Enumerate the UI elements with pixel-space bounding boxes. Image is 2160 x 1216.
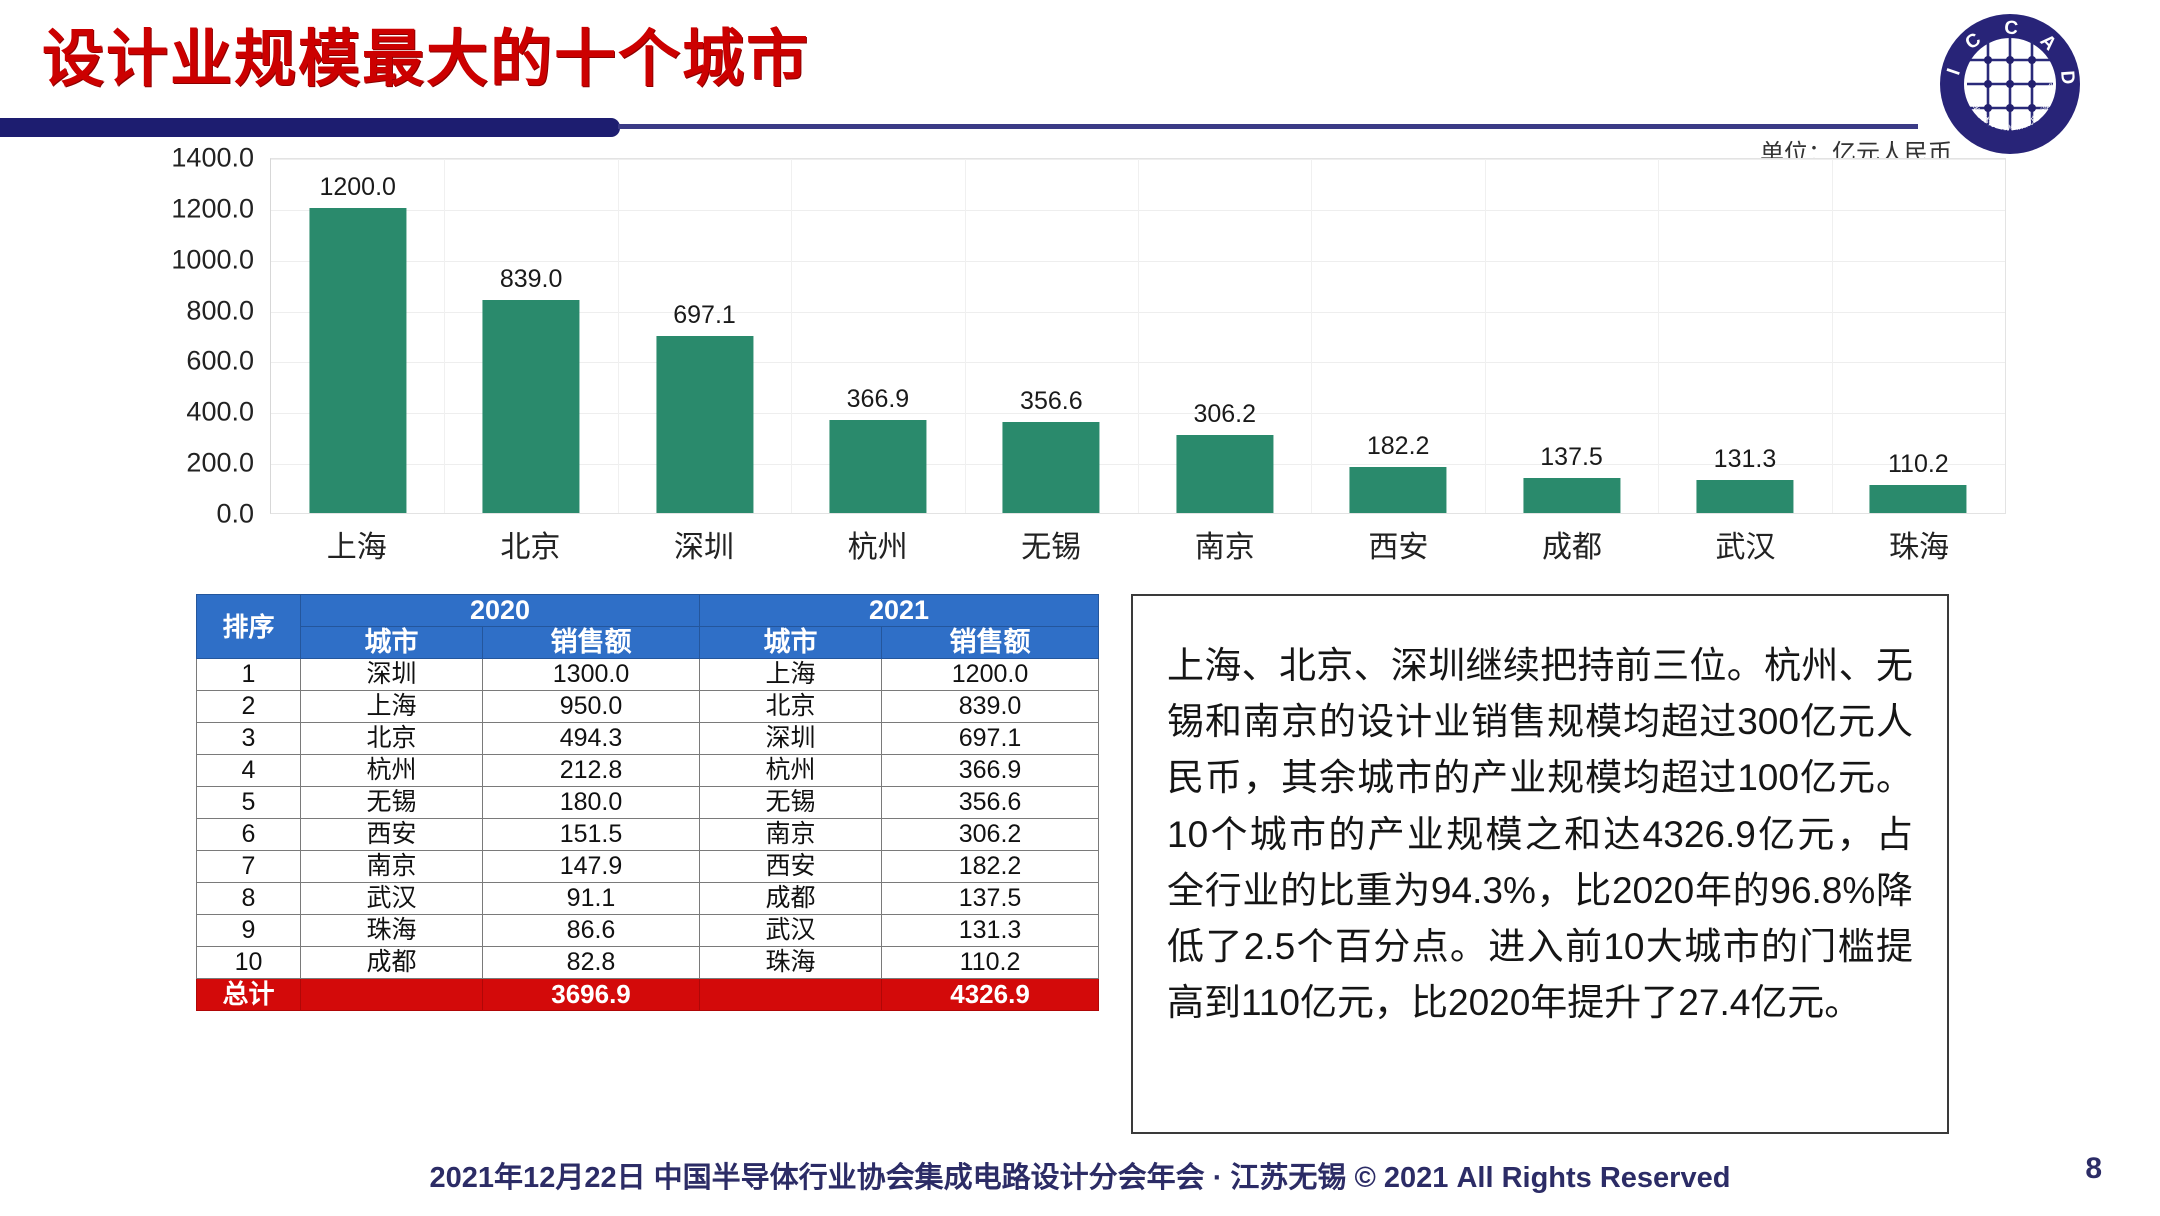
bar-深圳 — [656, 336, 753, 513]
city-cell-2020: 深圳 — [301, 659, 483, 691]
x-axis-tick: 深圳 — [617, 522, 791, 574]
sales-cell-2020: 147.9 — [483, 851, 700, 883]
commentary-box: 上海、北京、深圳继续把持前三位。杭州、无锡和南京的设计业销售规模均超过300亿元… — [1131, 594, 1949, 1134]
bar-无锡 — [1003, 422, 1100, 513]
sales-cell-2021: 182.2 — [882, 851, 1099, 883]
city-cell-2020: 武汉 — [301, 883, 483, 915]
bar-value-label: 839.0 — [500, 265, 563, 294]
bar-slot: 182.2 — [1311, 159, 1484, 513]
bar-value-label: 182.2 — [1367, 432, 1430, 461]
city-cell-2020: 上海 — [301, 691, 483, 723]
bar-slot: 1200.0 — [271, 159, 444, 513]
rank-cell: 1 — [197, 659, 301, 691]
city-cell-2021: 成都 — [700, 883, 882, 915]
bar-slot: 697.1 — [618, 159, 791, 513]
sales-cell-2020: 82.8 — [483, 947, 700, 979]
total-city-2020 — [301, 979, 483, 1011]
rank-cell: 8 — [197, 883, 301, 915]
bar-上海 — [309, 208, 406, 513]
sales-cell-2020: 212.8 — [483, 755, 700, 787]
city-cell-2021: 深圳 — [700, 723, 882, 755]
y-axis-tick: 1400.0 — [171, 143, 254, 174]
bar-value-label: 356.6 — [1020, 387, 1083, 416]
bar-珠海 — [1870, 485, 1967, 513]
rank-cell: 4 — [197, 755, 301, 787]
sales-cell-2021: 697.1 — [882, 723, 1099, 755]
sales-cell-2020: 151.5 — [483, 819, 700, 851]
bar-南京 — [1176, 435, 1273, 513]
x-axis-tick: 武汉 — [1659, 522, 1833, 574]
sales-cell-2021: 137.5 — [882, 883, 1099, 915]
title-underline-thick — [0, 118, 620, 137]
y-axis-tick: 200.0 — [186, 448, 254, 479]
col-header-city-2020: 城市 — [301, 627, 483, 659]
rank-cell: 7 — [197, 851, 301, 883]
y-axis-tick: 1000.0 — [171, 244, 254, 275]
title-area: 设计业规模最大的十个城市 — [0, 0, 2160, 150]
x-axis-tick: 上海 — [270, 522, 444, 574]
table-row: 4杭州212.8杭州366.9 — [197, 755, 1099, 787]
sales-cell-2021: 356.6 — [882, 787, 1099, 819]
table-row: 8武汉91.1成都137.5 — [197, 883, 1099, 915]
table-body: 1深圳1300.0上海1200.02上海950.0北京839.03北京494.3… — [197, 659, 1099, 1011]
city-cell-2021: 无锡 — [700, 787, 882, 819]
sales-cell-2021: 306.2 — [882, 819, 1099, 851]
x-axis: 上海北京深圳杭州无锡南京西安成都武汉珠海 — [270, 522, 2006, 574]
col-header-city-2021: 城市 — [700, 627, 882, 659]
table-header: 排序 2020 2021 城市 销售额 城市 销售额 — [197, 595, 1099, 659]
rank-cell: 2 — [197, 691, 301, 723]
x-axis-tick: 无锡 — [964, 522, 1138, 574]
y-axis-tick: 0.0 — [216, 499, 254, 530]
plot-area: 1200.0839.0697.1366.9356.6306.2182.2137.… — [270, 158, 2006, 514]
bar-slot: 137.5 — [1485, 159, 1658, 513]
bar-杭州 — [829, 420, 926, 513]
sales-cell-2021: 131.3 — [882, 915, 1099, 947]
bar-slot: 131.3 — [1658, 159, 1831, 513]
bar-slot: 306.2 — [1138, 159, 1311, 513]
city-cell-2020: 西安 — [301, 819, 483, 851]
bar-value-label: 306.2 — [1193, 400, 1256, 429]
sales-cell-2021: 1200.0 — [882, 659, 1099, 691]
rank-cell: 6 — [197, 819, 301, 851]
total-sales-2020: 3696.9 — [483, 979, 700, 1011]
x-axis-tick: 珠海 — [1832, 522, 2006, 574]
bar-slot: 110.2 — [1832, 159, 2005, 513]
footer-text: 2021年12月22日 中国半导体行业协会集成电路设计分会年会 · 江苏无锡 ©… — [0, 1154, 2160, 1196]
city-cell-2020: 珠海 — [301, 915, 483, 947]
col-header-sales-2020: 销售额 — [483, 627, 700, 659]
bar-slot: 839.0 — [444, 159, 617, 513]
city-cell-2020: 杭州 — [301, 755, 483, 787]
city-cell-2021: 西安 — [700, 851, 882, 883]
x-axis-tick: 成都 — [1485, 522, 1659, 574]
table-total-row: 总计3696.94326.9 — [197, 979, 1099, 1011]
bar-北京 — [483, 300, 580, 513]
bar-武汉 — [1696, 480, 1793, 513]
table-row: 10成都82.8珠海110.2 — [197, 947, 1099, 979]
sales-cell-2020: 86.6 — [483, 915, 700, 947]
city-cell-2021: 上海 — [700, 659, 882, 691]
iccad-logo: I C C A D 中国半导体行业协会集成电路设计分会 — [1936, 8, 2084, 156]
city-cell-2021: 杭州 — [700, 755, 882, 787]
rank-cell: 5 — [197, 787, 301, 819]
col-header-2021: 2021 — [700, 595, 1099, 627]
bar-slot: 356.6 — [965, 159, 1138, 513]
col-header-sales-2021: 销售额 — [882, 627, 1099, 659]
rank-cell: 9 — [197, 915, 301, 947]
city-cell-2021: 北京 — [700, 691, 882, 723]
sales-cell-2021: 839.0 — [882, 691, 1099, 723]
x-axis-tick: 南京 — [1138, 522, 1312, 574]
ranking-table: 排序 2020 2021 城市 销售额 城市 销售额 1深圳1300.0上海12… — [196, 594, 1099, 1011]
col-header-rank: 排序 — [197, 595, 301, 659]
sales-cell-2020: 494.3 — [483, 723, 700, 755]
sales-cell-2021: 366.9 — [882, 755, 1099, 787]
y-axis-tick: 1200.0 — [171, 193, 254, 224]
bar-chart: 1400.01200.01000.0800.0600.0400.0200.00.… — [146, 158, 2006, 578]
sales-cell-2020: 91.1 — [483, 883, 700, 915]
rank-cell: 10 — [197, 947, 301, 979]
title-underline-thin — [618, 124, 1918, 129]
total-sales-2021: 4326.9 — [882, 979, 1099, 1011]
y-axis: 1400.01200.01000.0800.0600.0400.0200.00.… — [146, 158, 264, 518]
bar-value-label: 697.1 — [673, 301, 736, 330]
total-label: 总计 — [197, 979, 301, 1011]
y-axis-tick: 600.0 — [186, 346, 254, 377]
table-row: 1深圳1300.0上海1200.0 — [197, 659, 1099, 691]
bar-西安 — [1350, 467, 1447, 513]
city-cell-2021: 南京 — [700, 819, 882, 851]
page-number: 8 — [2085, 1152, 2102, 1186]
table-row: 5无锡180.0无锡356.6 — [197, 787, 1099, 819]
col-header-2020: 2020 — [301, 595, 700, 627]
x-axis-tick: 杭州 — [791, 522, 965, 574]
page-title: 设计业规模最大的十个城市 — [42, 8, 810, 98]
x-axis-tick: 西安 — [1312, 522, 1486, 574]
sales-cell-2021: 110.2 — [882, 947, 1099, 979]
commentary-text: 上海、北京、深圳继续把持前三位。杭州、无锡和南京的设计业销售规模均超过300亿元… — [1167, 638, 1913, 1032]
table-row: 9珠海86.6武汉131.3 — [197, 915, 1099, 947]
rank-cell: 3 — [197, 723, 301, 755]
bar-value-label: 137.5 — [1540, 443, 1603, 472]
bar-value-label: 366.9 — [847, 385, 910, 414]
city-cell-2021: 武汉 — [700, 915, 882, 947]
city-cell-2020: 北京 — [301, 723, 483, 755]
bar-slot: 366.9 — [791, 159, 964, 513]
sales-cell-2020: 1300.0 — [483, 659, 700, 691]
bar-value-label: 131.3 — [1714, 445, 1777, 474]
city-cell-2021: 珠海 — [700, 947, 882, 979]
table-row: 7南京147.9西安182.2 — [197, 851, 1099, 883]
city-cell-2020: 南京 — [301, 851, 483, 883]
bar-成都 — [1523, 478, 1620, 513]
y-axis-tick: 800.0 — [186, 295, 254, 326]
city-cell-2020: 无锡 — [301, 787, 483, 819]
table-row: 2上海950.0北京839.0 — [197, 691, 1099, 723]
bar-value-label: 110.2 — [1888, 450, 1949, 479]
x-axis-tick: 北京 — [444, 522, 618, 574]
city-cell-2020: 成都 — [301, 947, 483, 979]
bar-value-label: 1200.0 — [319, 173, 395, 202]
table-row: 3北京494.3深圳697.1 — [197, 723, 1099, 755]
table-row: 6西安151.5南京306.2 — [197, 819, 1099, 851]
y-axis-tick: 400.0 — [186, 397, 254, 428]
total-city-2021 — [700, 979, 882, 1011]
sales-cell-2020: 950.0 — [483, 691, 700, 723]
sales-cell-2020: 180.0 — [483, 787, 700, 819]
bar-series: 1200.0839.0697.1366.9356.6306.2182.2137.… — [271, 159, 2005, 513]
